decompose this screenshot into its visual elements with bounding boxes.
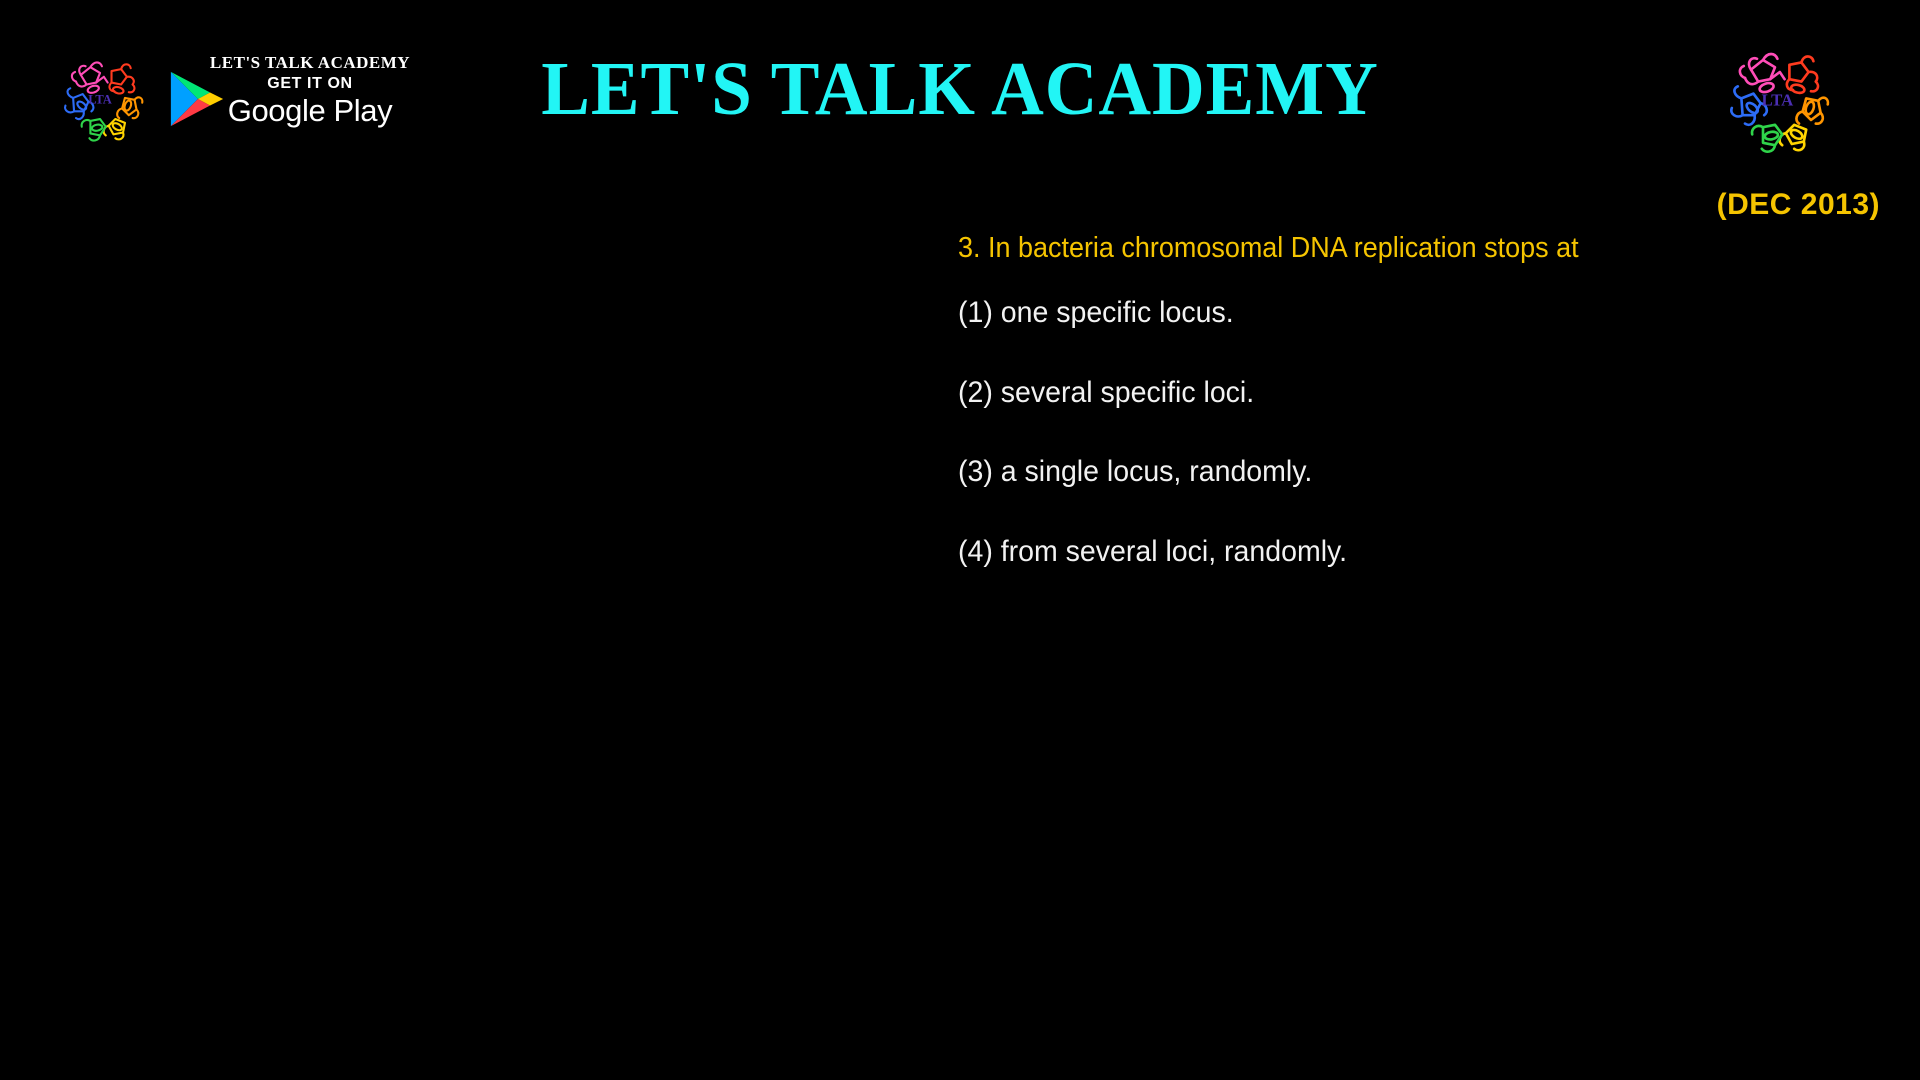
option-item-1[interactable]: (1) one specific locus. [958,295,1851,332]
slide-canvas: LTA [0,0,1920,1080]
question-text: 3. In bacteria chromosomal DNA replicati… [958,230,1832,266]
option-item-2[interactable]: (2) several specific loci. [958,375,1851,412]
question-block: 3. In bacteria chromosomal DNA replicati… [958,230,1898,571]
page-title: LET'S TALK ACADEMY [38,51,1881,127]
option-item-4[interactable]: (4) from several loci, randomly. [958,534,1851,571]
svg-text:LTA: LTA [1762,91,1794,110]
exam-session-badge: (DEC 2013) [1717,188,1880,222]
lta-protein-ribbon-logo-right: LTA [1715,36,1835,156]
option-list: (1) one specific locus. (2) several spec… [958,295,1898,570]
option-item-3[interactable]: (3) a single locus, randomly. [958,454,1851,491]
slide-header: LTA [0,0,1920,175]
